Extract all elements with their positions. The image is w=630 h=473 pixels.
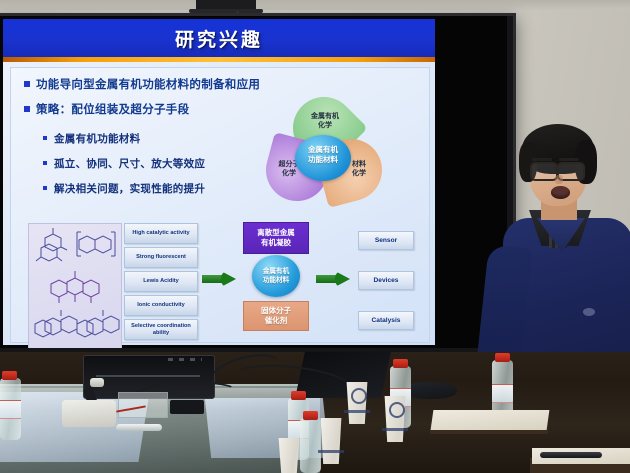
catalyst-box-line2: 催化剂 <box>261 316 291 326</box>
cup-band-2 <box>382 428 408 431</box>
cup-logo-2 <box>389 402 405 418</box>
cup-band-3 <box>318 450 344 453</box>
presenter-nose <box>555 175 563 184</box>
glasses-lens-left <box>530 162 558 181</box>
arrow-shaft-2 <box>316 275 337 283</box>
bottle-cap-5 <box>2 371 17 380</box>
arrow-shaft <box>202 275 223 283</box>
output-sensor: Sensor <box>358 231 414 250</box>
bullet-marker-2 <box>24 106 30 112</box>
mouse <box>405 382 457 399</box>
bullet-level1-0: 功能导向型金属有机功能材料的制备和应用 <box>36 76 260 92</box>
molecule-structures-panel <box>28 223 122 348</box>
glasses-bridge <box>554 167 559 169</box>
property-2: Lewis Acidity <box>124 271 198 292</box>
venn-label-top: 金属有机 化学 <box>297 113 353 131</box>
tv-screen: 研究兴趣 功能导向型金属有机功能材料的制备和应用 策略：配位组装及超分子手段 金… <box>0 16 507 348</box>
catalyst-box-line1: 固体分子 <box>261 306 291 316</box>
flow-center-circle: 金属有机 功能材料 <box>252 255 300 297</box>
bullet-level2-0: 金属有机功能材料 <box>54 131 140 146</box>
property-3: Ionic conductivity <box>124 295 198 316</box>
bottle-cap-3 <box>495 353 510 362</box>
bullet-marker-1 <box>24 81 30 87</box>
venn-center-label: 金属有机 功能材料 <box>295 145 351 165</box>
water-bottle-4 <box>300 418 321 473</box>
tv-display: 研究兴趣 功能导向型金属有机功能材料的制备和应用 策略：配位组装及超分子手段 金… <box>0 13 516 357</box>
property-1: Strong fluorescent <box>124 247 198 268</box>
gel-box-line2: 有机凝胶 <box>257 238 295 248</box>
presentation-slide: 研究兴趣 功能导向型金属有机功能材料的制备和应用 策略：配位组装及超分子手段 金… <box>3 19 435 345</box>
microphone <box>90 378 104 387</box>
bottle-cap-1 <box>291 391 306 400</box>
venn-center: 金属有机 功能材料 <box>295 135 351 181</box>
output-devices: Devices <box>358 271 414 290</box>
venn-center-line1: 金属有机 <box>295 145 351 155</box>
bottle-label-5 <box>0 400 21 419</box>
bottle-cap-4 <box>303 411 318 420</box>
stylus-pen <box>116 424 162 431</box>
bullet-level2-2: 解决相关问题，实现性能的提升 <box>54 181 205 196</box>
white-device-box <box>62 400 116 427</box>
notebook-1 <box>431 410 550 430</box>
flow-arrow-right <box>316 271 350 287</box>
sweater-logo <box>583 308 595 316</box>
discrete-metal-organic-gel-box: 离散型金属 有机凝胶 <box>243 222 309 254</box>
venn-label-top-line2: 化学 <box>297 122 353 131</box>
output-catalysis: Catalysis <box>358 311 414 330</box>
presenter-brow-left <box>532 158 552 161</box>
cup-band-1 <box>344 410 370 413</box>
property-0: High catalytic activity <box>124 223 198 244</box>
venn-center-line2: 功能材料 <box>295 155 351 165</box>
slide-accent-bar <box>3 57 435 62</box>
presenter-brow-right <box>559 158 579 161</box>
bottle-label-3 <box>492 384 513 403</box>
bottle-cap-2 <box>393 359 408 368</box>
screenshot-root: 研究兴趣 功能导向型金属有机功能材料的制备和应用 策略：配位组装及超分子手段 金… <box>0 0 630 473</box>
presenter-mouth <box>551 186 570 199</box>
subbullet-marker-3 <box>43 186 47 190</box>
laptop-vents <box>168 358 202 361</box>
arrow-head <box>221 271 236 287</box>
venn-label-top-line1: 金属有机 <box>297 113 353 122</box>
cup-logo-1 <box>351 388 367 404</box>
flow-circle-line1: 金属有机 <box>263 267 289 276</box>
subbullet-marker-1 <box>43 136 47 140</box>
gel-box-line1: 离散型金属 <box>257 228 295 238</box>
black-adapter <box>170 400 204 414</box>
bullet-level1-1: 策略：配位组装及超分子手段 <box>36 101 189 117</box>
flow-circle-line2: 功能材料 <box>263 276 289 285</box>
slide-title: 研究兴趣 <box>3 25 435 52</box>
subbullet-marker-2 <box>43 161 47 165</box>
laptop-seam <box>96 375 200 377</box>
property-4: Selective coordination ability <box>124 319 198 340</box>
molecule-structures-svg <box>29 224 121 348</box>
bullet-level2-1: 孤立、协同、尺寸、放大等效应 <box>54 156 205 171</box>
flow-diagram: High catalytic activity Strong fluoresce… <box>28 219 428 348</box>
solid-molecular-catalyst-box: 固体分子 催化剂 <box>243 301 309 331</box>
arrow-head-2 <box>335 271 350 287</box>
flow-arrow-left <box>202 271 236 287</box>
venn-diagram: 金属有机 化学 超分子 化学 材料 化学 金属有机 功能材料 <box>265 97 383 205</box>
pen <box>540 452 602 458</box>
ceiling-edge <box>0 0 630 10</box>
